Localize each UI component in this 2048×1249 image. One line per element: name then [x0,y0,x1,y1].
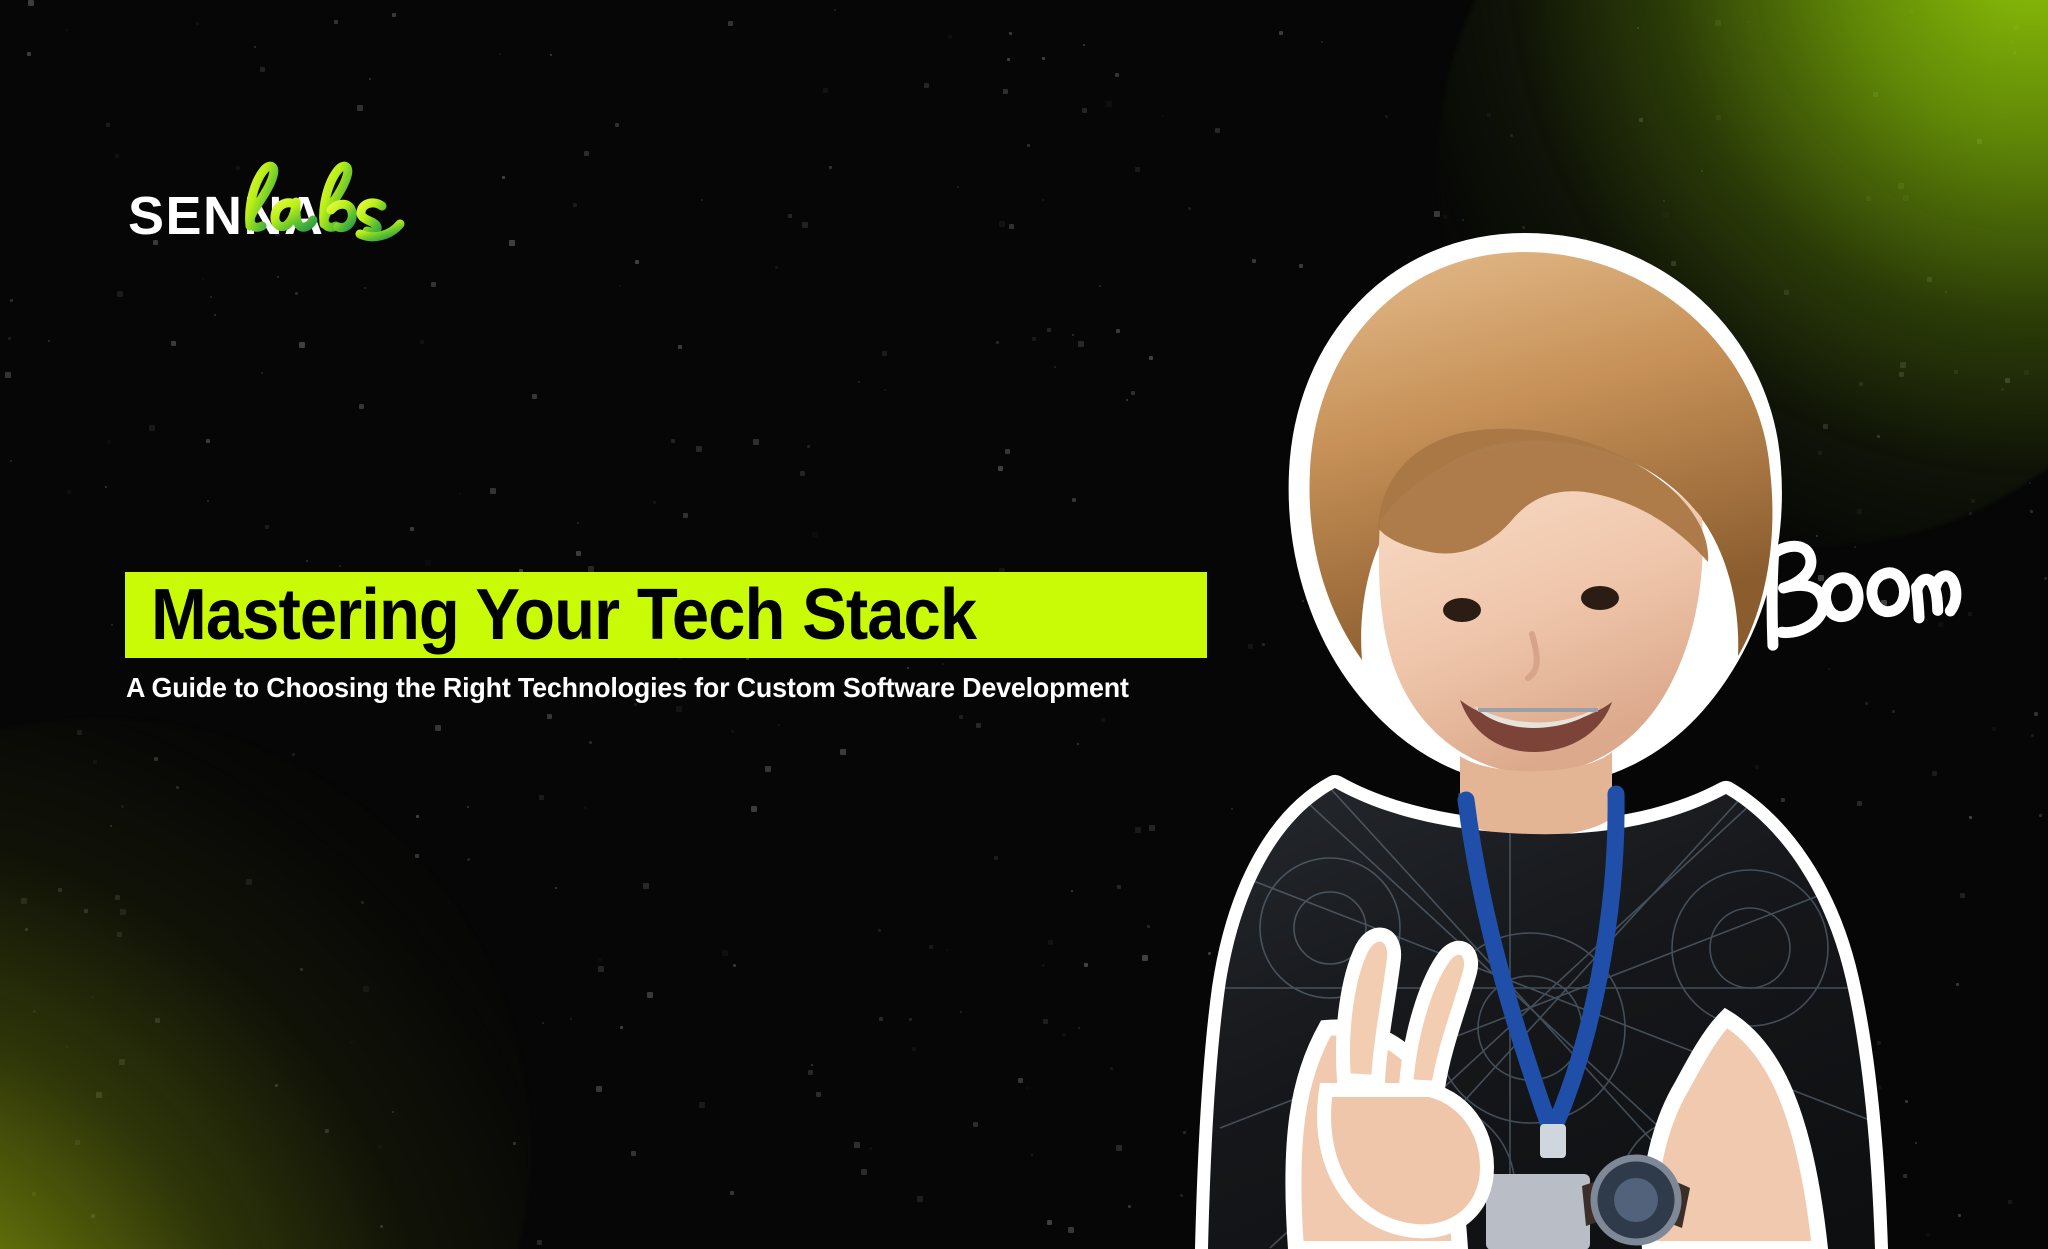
person-photo-cutout [1130,228,1940,1249]
person-illustration [1130,228,1940,1249]
lanyard-clip [1540,1124,1566,1158]
banner-canvas: SENNA [0,0,2048,1249]
page-title: Mastering Your Tech Stack [151,579,976,651]
page-subtitle: A Guide to Choosing the Right Technologi… [126,672,1129,704]
sennalabs-logo[interactable]: SENNA [128,170,325,242]
logo-wordmark: SENNA [128,191,325,242]
eye-left [1443,598,1481,622]
eye-right [1581,586,1619,610]
headline-highlight-bar: Mastering Your Tech Stack [125,572,1207,658]
id-badge [1486,1174,1590,1249]
